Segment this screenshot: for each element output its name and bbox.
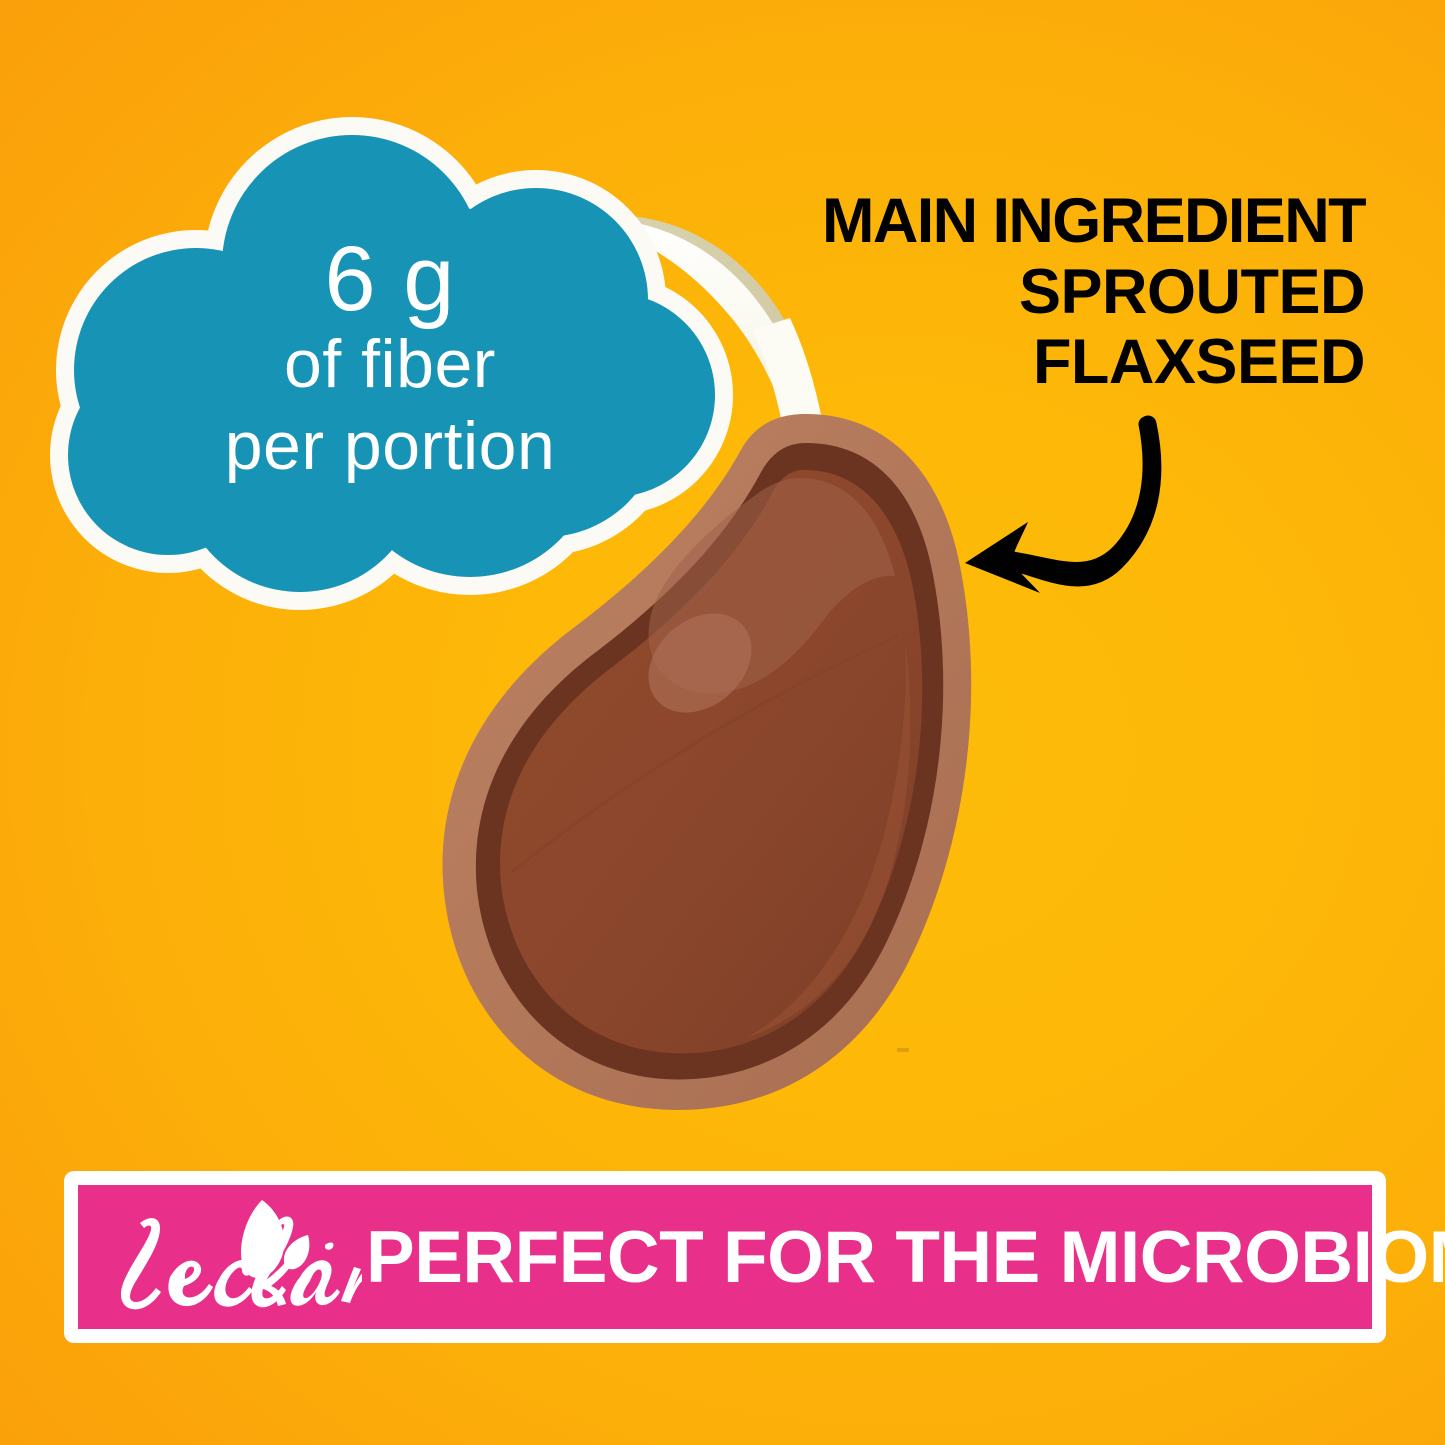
banner-inner: PERFECT FOR THE MICROBIOME bbox=[78, 1185, 1372, 1329]
fiber-callout-cloud bbox=[50, 117, 733, 610]
headline-line-2: SPROUTED bbox=[755, 257, 1365, 328]
headline-line-3: FLAXSEED bbox=[755, 327, 1365, 398]
logo-wordmark-icon bbox=[121, 1216, 362, 1309]
headline-line-1: MAIN INGREDIENT bbox=[755, 186, 1365, 257]
print-artifact-mark bbox=[897, 1048, 909, 1052]
curved-arrow-icon bbox=[965, 424, 1153, 593]
promo-poster: 6 g of fiber per portion MAIN INGREDIENT… bbox=[0, 0, 1445, 1445]
leckar-logo bbox=[112, 1197, 362, 1317]
banner-tagline: PERFECT FOR THE MICROBIOME bbox=[366, 1221, 1445, 1294]
headline-block: MAIN INGREDIENT SPROUTED FLAXSEED bbox=[755, 186, 1365, 398]
bottom-banner: PERFECT FOR THE MICROBIOME bbox=[64, 1171, 1386, 1343]
